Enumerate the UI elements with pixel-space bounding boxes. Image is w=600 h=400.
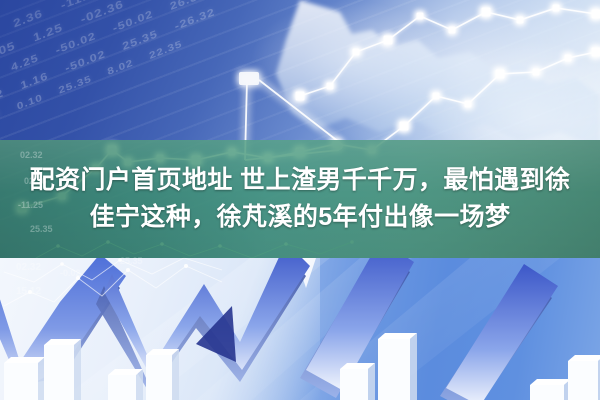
chart-node-marker xyxy=(533,69,540,76)
headline-line-1: 配资门户首页地址 世上渣男千千万，最怕遇到徐 xyxy=(30,164,571,197)
banner-image: -02.35 21.16 45.02-00.02 -11.25 50.02 4.… xyxy=(0,0,600,400)
chart-node-marker xyxy=(384,36,393,45)
chart-node-marker xyxy=(465,101,472,108)
bar-front-face xyxy=(568,361,598,400)
bar-top-face xyxy=(530,379,571,385)
chart-node-marker xyxy=(592,10,600,19)
bar-side-face xyxy=(38,357,45,400)
headline-text-block: 配资门户首页地址 世上渣男千千万，最怕遇到徐 佳宁这种，徐芃溪的5年付出像一场梦 xyxy=(0,140,600,258)
chart-node-marker xyxy=(565,55,572,62)
bar-front-face xyxy=(44,345,74,400)
bar-side-face xyxy=(410,333,417,400)
bar-side-face xyxy=(74,339,81,400)
bar-front-face xyxy=(530,385,564,400)
bar-top-face xyxy=(4,357,45,363)
chart-node-marker xyxy=(353,49,360,56)
bar-front-face xyxy=(146,355,172,400)
bar-front-face xyxy=(108,375,136,400)
left-glow-network xyxy=(0,252,230,322)
bar-side-face xyxy=(368,363,375,400)
chart-node-marker xyxy=(553,5,560,12)
headline-line-2: 佳宁这种，徐芃溪的5年付出像一场梦 xyxy=(90,201,511,234)
bar-side-face xyxy=(172,349,179,400)
chart-node-marker xyxy=(592,48,600,57)
bar-front-face xyxy=(340,369,368,400)
chart-node-marker xyxy=(433,93,440,100)
chart-node-marker xyxy=(400,122,409,131)
chart-node-marker xyxy=(482,8,491,17)
chart-node-marker xyxy=(449,27,456,34)
chart-node-marker xyxy=(496,70,505,79)
bar-front-face xyxy=(4,363,38,400)
bar-front-face xyxy=(378,339,410,400)
chart-node-marker xyxy=(517,17,524,24)
chart-node-marker xyxy=(417,13,424,20)
bar-top-face xyxy=(568,355,600,361)
